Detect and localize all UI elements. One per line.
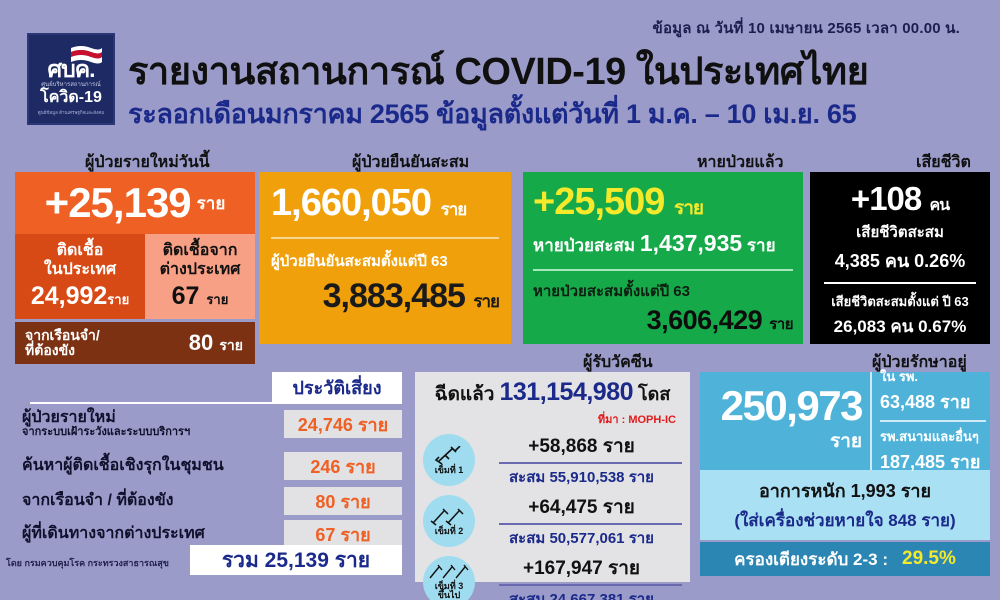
vaccine-total-row: ฉีดแล้ว 131,154,980 โดส — [423, 378, 682, 409]
domestic-label-line2: ในประเทศ — [44, 261, 116, 278]
dose-3-label-line2: ขึ้นไป — [438, 590, 461, 600]
severe-cases-label: อาการหนัก — [759, 481, 846, 501]
deaths-today-unit: คน — [929, 197, 949, 214]
dose-1-label: เข็มที่ 1 — [435, 466, 464, 475]
dose-1-numbers: +58,868 ราย สะสม 55,910,538 ราย — [475, 431, 682, 489]
credit-text: โดย กรมควบคุมโรค กระทรวงสาธารณสุข — [6, 556, 169, 570]
report-datetime: ข้อมูล ณ วันที่ 10 เมษายน 2565 เวลา 00.0… — [652, 16, 960, 40]
page-subtitle: ระลอกเดือนมกราคม 2565 ข้อมูลตั้งแต่วันที… — [128, 92, 856, 135]
vaccine-total-unit: โดส — [638, 379, 670, 408]
foreign-value-unit: ราย — [206, 292, 228, 307]
dose-3-badge: เข็มที่ 3 ขึ้นไป — [423, 556, 475, 600]
prison-value-number: 80 — [189, 330, 213, 355]
dose-2-cumulative: สะสม 50,577,061 ราย — [481, 526, 682, 550]
list-item: เข็มที่ 1 +58,868 ราย สะสม 55,910,538 รา… — [423, 431, 682, 489]
treatment-total-value: 250,973 — [721, 386, 862, 426]
confirmed-total-value: 1,660,050 — [271, 182, 431, 224]
risk-row-value: 24,746 ราย — [284, 410, 402, 438]
deaths-cumulative-value: 4,385 คน 0.26% — [820, 246, 980, 275]
risk-row-label-main: ผู้ป่วยรายใหม่ — [22, 409, 116, 426]
confirmed-divider — [271, 237, 499, 239]
deaths-panel: +108 คน เสียชีวิตสะสม 4,385 คน 0.26% เสี… — [810, 172, 990, 344]
confirmed-since63-number: 3,883,485 — [323, 277, 465, 315]
severe-cases-value: 1,993 ราย — [851, 481, 931, 501]
risk-row-label: จากเรือนจำ / ที่ต้องขัง — [22, 493, 284, 510]
prison-label-line2: ที่ต้องขัง — [25, 342, 75, 358]
prison-cases-value: 80 ราย — [189, 330, 243, 357]
deaths-today-value: +108 — [851, 180, 921, 217]
deaths-today: +108 คน — [820, 180, 980, 218]
vaccine-total-value: 131,154,980 — [499, 378, 633, 407]
risk-row-label-sub: จากระบบเฝ้าระวังและระบบบริการฯ — [22, 427, 284, 439]
recovered-since63-value: 3,606,429 ราย — [533, 305, 793, 336]
bed-occupancy-band: ครองเตียงระดับ 2-3 : 29.5% — [700, 542, 990, 576]
prison-value-unit: ราย — [219, 337, 243, 353]
recovered-today-value: +25,509 — [533, 181, 664, 223]
dose-1-cumulative: สะสม 55,910,538 ราย — [481, 465, 682, 489]
ventilator-text: (ใส่เครื่องช่วยหายใจ 848 ราย) — [708, 507, 982, 534]
recovered-since63-label: หายป่วยสะสมตั้งแต่ปี 63 — [533, 279, 793, 303]
syringe-single-icon — [432, 446, 466, 466]
table-row: ค้นหาผู้ติดเชื้อเชิงรุกในชุมชน 246 ราย — [22, 450, 402, 482]
dose-2-divider — [499, 523, 682, 525]
risk-history-total: รวม 25,139 ราย — [190, 545, 402, 575]
vaccine-total-label: ฉีดแล้ว — [435, 379, 495, 409]
recovered-today: +25,509 ราย — [533, 181, 793, 224]
new-cases-total: +25,139 ราย — [15, 172, 255, 234]
dose-2-badge: เข็มที่ 2 — [423, 495, 475, 547]
foreign-label-line2: ต่างประเทศ — [160, 261, 241, 278]
treatment-panel: 250,973 ราย ใน รพ. 63,488 ราย รพ.สนามและ… — [700, 372, 990, 576]
vaccine-source: ที่มา : MOPH-IC — [423, 410, 676, 428]
syringe-triple-icon — [428, 564, 470, 582]
syringe-double-icon — [430, 507, 468, 527]
foreign-value-number: 67 — [172, 282, 200, 310]
logo-subtitle: ศูนย์บริหารสถานการณ์ — [41, 82, 101, 89]
dose-3-divider — [499, 584, 682, 586]
dose-3-label: เข็มที่ 3 ขึ้นไป — [435, 582, 464, 600]
new-cases-panel: +25,139 ราย ติดเชื้อ ในประเทศ 24,992ราย … — [15, 172, 255, 364]
list-item: เข็มที่ 3 ขึ้นไป +167,947 ราย สะสม 24,66… — [423, 553, 682, 600]
foreign-cases-value: 67 ราย — [172, 282, 229, 311]
domestic-label-line1: ติดเชื้อ — [57, 242, 104, 259]
treatment-total-unit: ราย — [830, 426, 862, 456]
risk-row-value: 80 ราย — [284, 487, 402, 515]
in-hospital-label: ใน รพ. — [880, 366, 990, 387]
recovered-cumulative-label: หายป่วยสะสม — [533, 236, 635, 255]
treatment-top: 250,973 ราย ใน รพ. 63,488 ราย รพ.สนามและ… — [700, 372, 990, 470]
domestic-value-number: 24,992 — [31, 282, 107, 310]
recovered-cumulative-value: 1,437,935 — [640, 230, 742, 256]
domestic-cases-label: ติดเชื้อ ในประเทศ — [44, 242, 116, 279]
dose-2-new: +64,475 ราย — [481, 492, 682, 522]
risk-row-label: ค้นหาผู้ติดเชื้อเชิงรุกในชุมชน — [22, 458, 284, 475]
foreign-cases-label: ติดเชื้อจาก ต่างประเทศ — [160, 242, 241, 279]
risk-history-rule — [30, 402, 402, 404]
confirmed-total-unit: ราย — [441, 200, 467, 219]
field-hospital-label: รพ.สนามและอื่นๆ — [880, 426, 990, 447]
prison-cases-label: จากเรือนจำ/ ที่ต้องขัง — [25, 328, 100, 359]
list-item: เข็มที่ 2 +64,475 ราย สะสม 50,577,061 รา… — [423, 492, 682, 550]
severe-cases-row: อาการหนัก 1,993 ราย — [708, 476, 982, 505]
dose-1-label-line1: เข็มที่ 1 — [435, 465, 464, 475]
prison-cases-cell: จากเรือนจำ/ ที่ต้องขัง 80 ราย — [15, 322, 255, 364]
new-cases-breakdown: ติดเชื้อ ในประเทศ 24,992ราย ติดเชื้อจาก … — [15, 234, 255, 319]
infographic-root: ข้อมูล ณ วันที่ 10 เมษายน 2565 เวลา 00.0… — [0, 0, 1000, 600]
sbc-covid19-logo: ศบค. ศูนย์บริหารสถานการณ์ โควิด-19 ศูนย์… — [27, 33, 115, 125]
dose-1-divider — [499, 462, 682, 464]
vaccination-panel: ฉีดแล้ว 131,154,980 โดส ที่มา : MOPH-IC … — [415, 372, 690, 582]
recovered-panel: +25,509 ราย หายป่วยสะสม 1,437,935 ราย หา… — [523, 172, 803, 344]
recovered-since63-unit: ราย — [769, 316, 793, 333]
dose-3-numbers: +167,947 ราย สะสม 24,667,381 ราย — [475, 553, 682, 600]
dose-2-label: เข็มที่ 2 — [435, 527, 464, 536]
severe-cases-band: อาการหนัก 1,993 ราย (ใส่เครื่องช่วยหายใจ… — [700, 470, 990, 540]
domestic-cases-cell: ติดเชื้อ ในประเทศ 24,992ราย — [15, 234, 145, 319]
new-cases-total-unit: ราย — [197, 190, 226, 217]
field-hospital-value: 187,485 ราย — [880, 447, 990, 476]
foreign-label-line1: ติดเชื้อจาก — [163, 242, 238, 259]
deaths-since63-label: เสียชีวิตสะสมตั้งแต่ ปี 63 — [820, 291, 980, 312]
confirmed-since63-label: ผู้ป่วยยืนยันสะสมตั้งแต่ปี 63 — [271, 249, 499, 273]
deaths-cumulative-label: เสียชีวิตสะสม — [820, 220, 980, 244]
new-cases-total-value: +25,139 — [45, 179, 191, 227]
prison-label-line1: จากเรือนจำ/ — [25, 327, 100, 343]
risk-row-value: 246 ราย — [284, 452, 402, 480]
risk-row-label: ผู้ที่เดินทางจากต่างประเทศ — [22, 526, 284, 543]
bed-occupancy-value: 29.5% — [902, 548, 956, 570]
confirmed-since63-unit: ราย — [473, 292, 499, 311]
logo-covid19: โควิด-19 — [40, 90, 102, 106]
confirmed-cumulative-panel: 1,660,050 ราย ผู้ป่วยยืนยันสะสมตั้งแต่ปี… — [259, 172, 511, 344]
recovered-divider — [533, 269, 793, 271]
dose-1-new: +58,868 ราย — [481, 431, 682, 461]
in-hospital-value: 63,488 ราย — [880, 387, 990, 416]
dose-3-cumulative: สะสม 24,667,381 ราย — [481, 587, 682, 600]
domestic-cases-value: 24,992ราย — [31, 282, 129, 311]
deaths-divider — [824, 282, 976, 284]
treatment-breakdown-divider — [880, 420, 986, 422]
risk-row-label: ผู้ป่วยรายใหม่ จากระบบเฝ้าระวังและระบบบร… — [22, 410, 284, 438]
table-row: จากเรือนจำ / ที่ต้องขัง 80 ราย — [22, 485, 402, 517]
domestic-value-unit: ราย — [107, 292, 129, 307]
recovered-today-unit: ราย — [674, 198, 703, 219]
logo-footnote: ศูนย์ข้อมูล ด้านเศรษฐกิจและสังคม — [38, 109, 104, 116]
deaths-since63-value: 26,083 คน 0.67% — [820, 313, 980, 340]
confirmed-total: 1,660,050 ราย — [271, 182, 499, 225]
recovered-since63-number: 3,606,429 — [647, 305, 763, 335]
recovered-cumulative: หายป่วยสะสม 1,437,935 ราย — [533, 230, 793, 259]
confirmed-since63-value: 3,883,485 ราย — [271, 277, 499, 316]
treatment-breakdown: ใน รพ. 63,488 ราย รพ.สนามและอื่นๆ 187,48… — [872, 372, 990, 470]
treatment-total: 250,973 ราย — [700, 372, 872, 470]
bed-occupancy-label: ครองเตียงระดับ 2-3 : — [734, 546, 888, 573]
dose-1-badge: เข็มที่ 1 — [423, 434, 475, 486]
table-row: ผู้ป่วยรายใหม่ จากระบบเฝ้าระวังและระบบบร… — [22, 408, 402, 440]
foreign-cases-cell: ติดเชื้อจาก ต่างประเทศ 67 ราย — [145, 234, 255, 319]
dose-2-label-line1: เข็มที่ 2 — [435, 526, 464, 536]
dose-3-new: +167,947 ราย — [481, 553, 682, 583]
dose-2-numbers: +64,475 ราย สะสม 50,577,061 ราย — [475, 492, 682, 550]
thai-flag-ribbon-icon — [69, 44, 103, 66]
recovered-cumulative-unit: ราย — [747, 236, 776, 255]
risk-history-header: ประวัติเสี่ยง — [272, 372, 402, 402]
